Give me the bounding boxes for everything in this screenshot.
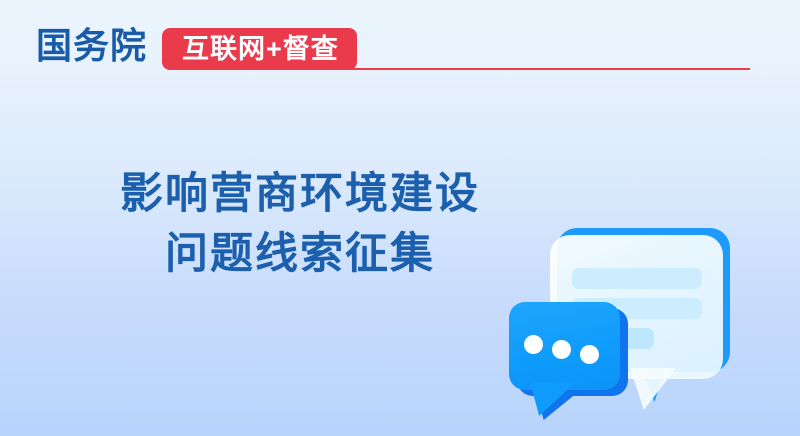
banner-header: 国务院 互联网+督查 — [0, 0, 800, 92]
typing-dot-icon — [580, 345, 599, 364]
large-chat-bubble-tail-icon — [630, 368, 676, 410]
typing-dot-icon — [524, 335, 543, 354]
header-divider-rule — [344, 68, 750, 70]
program-badge-label: 互联网+督查 — [182, 34, 339, 64]
chat-bubbles-illustration — [480, 210, 800, 436]
organization-name: 国务院 — [36, 24, 147, 68]
chat-bubble-text-line-icon — [572, 268, 702, 289]
typing-dot-icon — [552, 340, 571, 359]
program-badge: 互联网+督查 — [162, 28, 357, 70]
promo-banner: 国务院 互联网+督查 影响营商环境建设 问题线索征集 — [0, 0, 800, 436]
